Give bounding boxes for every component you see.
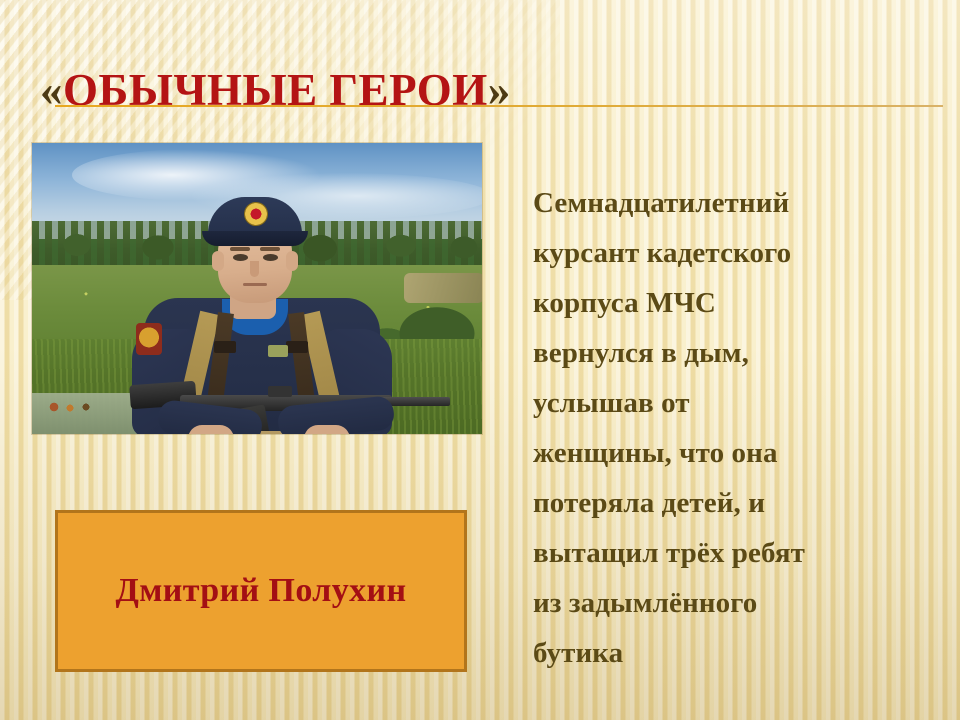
title-underline-rule bbox=[55, 105, 943, 107]
photo-chest-patch bbox=[268, 345, 288, 357]
photo-person-hand bbox=[304, 425, 350, 434]
body-line: вытащил трёх ребят bbox=[533, 528, 933, 578]
photo-person-hand bbox=[188, 425, 234, 434]
photo-person-ear bbox=[286, 251, 298, 271]
photo-person-eye bbox=[233, 254, 248, 261]
photo-harness-buckle bbox=[286, 341, 308, 353]
body-line: из задымлённого bbox=[533, 578, 933, 628]
body-line: услышав от bbox=[533, 378, 933, 428]
title-open-quote: « bbox=[40, 65, 63, 115]
photo-distant-figures bbox=[46, 395, 98, 415]
photo-person-eyebrow bbox=[230, 247, 250, 251]
title-close-quote: » bbox=[488, 65, 511, 115]
photo-person-ear bbox=[212, 251, 224, 271]
body-line: Семнадцатилетний bbox=[533, 178, 933, 228]
person-name: Дмитрий Полухин bbox=[115, 572, 406, 610]
hero-photo bbox=[32, 143, 482, 434]
emercom-cap-badge-icon bbox=[245, 203, 267, 225]
photo-person-cap-brim bbox=[202, 231, 308, 246]
photo-rifle-sight bbox=[268, 386, 292, 397]
body-line: потеряла детей, и bbox=[533, 478, 933, 528]
body-paragraph: Семнадцатилетний курсант кадетского корп… bbox=[533, 178, 933, 678]
title-headline: ОБЫЧНЫЕ ГЕРОИ bbox=[63, 65, 488, 115]
name-callout-box: Дмитрий Полухин bbox=[55, 510, 467, 672]
body-line: женщины, что она bbox=[533, 428, 933, 478]
slide-canvas: «ОБЫЧНЫЕ ГЕРОИ» bbox=[0, 0, 960, 720]
body-line: корпуса МЧС bbox=[533, 278, 933, 328]
body-line: бутика bbox=[533, 628, 933, 678]
photo-person-nose bbox=[250, 261, 259, 277]
photo-harness-buckle bbox=[214, 341, 236, 353]
photo-person-eyebrow bbox=[260, 247, 280, 251]
photo-person-mouth bbox=[243, 283, 267, 286]
photo-shoulder-patch bbox=[136, 323, 162, 355]
body-line: курсант кадетского bbox=[533, 228, 933, 278]
photo-person-eye bbox=[263, 254, 278, 261]
body-line: вернулся в дым, bbox=[533, 328, 933, 378]
